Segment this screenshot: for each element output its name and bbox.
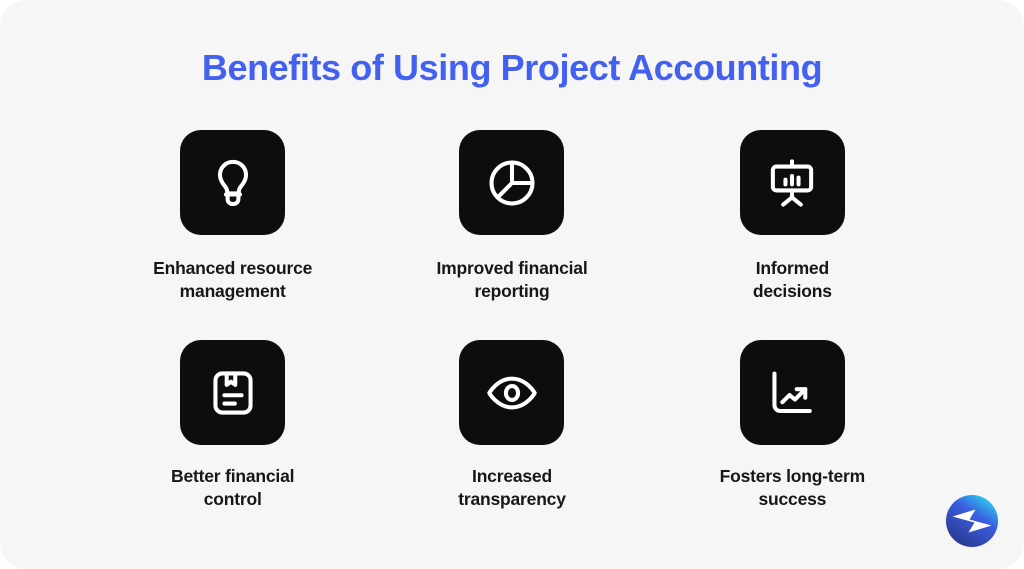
benefit-card-fosters-long-term-success[interactable]: Fosters long-term success: [654, 340, 931, 550]
benefit-label: Enhanced resource management: [153, 257, 312, 304]
benefit-label-line2: success: [720, 488, 865, 511]
benefit-card-informed-decisions[interactable]: Informed decisions: [654, 130, 931, 340]
benefit-card-enhanced-resource-management[interactable]: Enhanced resource management: [94, 130, 371, 340]
eye-icon-tile: [459, 340, 564, 445]
benefit-label-line2: transparency: [458, 488, 566, 511]
bookmarked-document-icon: [206, 366, 260, 420]
benefit-label: Improved financial reporting: [436, 257, 587, 304]
benefit-label-line2: decisions: [753, 280, 832, 303]
benefit-label: Increased transparency: [458, 465, 566, 512]
page-title: Benefits of Using Project Accounting: [0, 46, 1024, 89]
benefit-card-increased-transparency[interactable]: Increased transparency: [373, 340, 650, 550]
pie-chart-icon-tile: [459, 130, 564, 235]
trending-up-chart-icon: [765, 366, 819, 420]
benefit-label: Informed decisions: [753, 257, 832, 304]
benefit-label-line2: management: [153, 280, 312, 303]
benefit-label-line1: Improved financial: [436, 257, 587, 280]
benefit-label-line1: Fosters long-term: [720, 465, 865, 488]
presentation-bar-chart-icon: [765, 156, 819, 210]
benefit-label-line2: control: [171, 488, 294, 511]
benefits-grid: Enhanced resource management Improved fi…: [96, 130, 928, 550]
infographic-canvas: Benefits of Using Project Accounting Enh…: [0, 0, 1024, 569]
pie-chart-icon: [485, 156, 539, 210]
lightning-bolt-circle-logo[interactable]: [944, 493, 1000, 549]
lightbulb-icon: [206, 156, 260, 210]
benefit-label-line1: Increased: [458, 465, 566, 488]
benefit-label-line1: Informed: [753, 257, 832, 280]
benefit-label: Better financial control: [171, 465, 294, 512]
benefit-card-better-financial-control[interactable]: Better financial control: [94, 340, 371, 550]
benefit-label-line1: Better financial: [171, 465, 294, 488]
benefit-label-line1: Enhanced resource: [153, 257, 312, 280]
eye-icon: [485, 366, 539, 420]
trending-up-chart-icon-tile: [740, 340, 845, 445]
benefit-label: Fosters long-term success: [720, 465, 865, 512]
bookmarked-document-icon-tile: [180, 340, 285, 445]
presentation-bar-chart-icon-tile: [740, 130, 845, 235]
benefit-card-improved-financial-reporting[interactable]: Improved financial reporting: [373, 130, 650, 340]
lightbulb-icon-tile: [180, 130, 285, 235]
benefit-label-line2: reporting: [436, 280, 587, 303]
